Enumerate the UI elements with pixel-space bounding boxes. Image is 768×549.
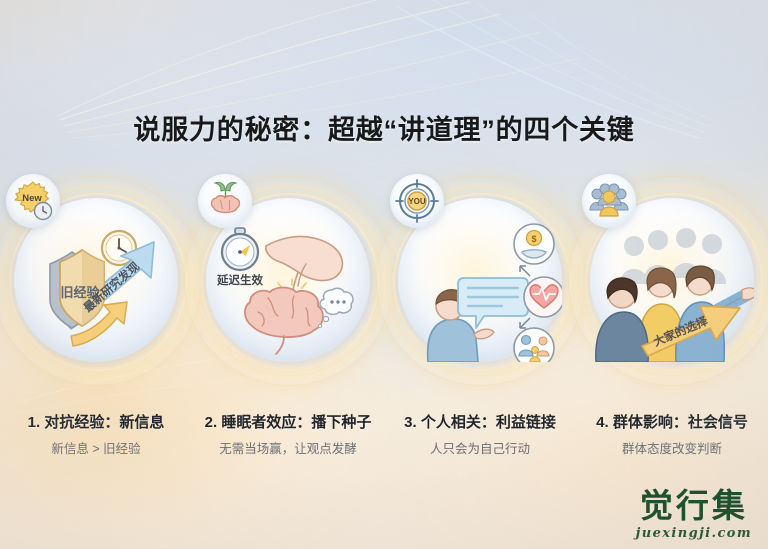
heart-pulse-icon — [524, 277, 562, 317]
caption-2: 2. 睡眠者效应：播下种子 无需当场赢，让观点发酵 — [192, 412, 384, 459]
badge-you-target: YOU — [390, 174, 444, 228]
caption-sub: 人只会为自己行动 — [388, 439, 572, 459]
badge-label: YOU — [408, 197, 426, 206]
hand-icon — [266, 236, 342, 290]
svg-text:$: $ — [531, 234, 536, 244]
panel-2-sleeper-effect[interactable]: 延迟生效 — [192, 172, 384, 382]
poster-canvas: 说服力的秘密：超越“讲道理”的四个关键 — [0, 0, 768, 549]
caption-heading: 3. 个人相关：利益链接 — [388, 412, 572, 434]
caption-sub: 新信息 > 旧经验 — [4, 439, 188, 459]
speech-bubble-icon — [458, 278, 528, 328]
brain-icon — [245, 288, 323, 355]
family-icon — [514, 328, 554, 362]
timer-label: 延迟生效 — [216, 273, 263, 287]
badge-brain-sprout — [198, 174, 252, 228]
logo-domain: juexingji.com — [636, 526, 752, 541]
badge-crowd — [582, 174, 636, 228]
caption-1: 1. 对抗经验：新信息 新信息 > 旧经验 — [0, 412, 192, 459]
badge-label: New — [22, 193, 42, 204]
caption-sub: 无需当场赢，让观点发酵 — [196, 439, 380, 459]
panel-4-social-proof[interactable]: 大家的选择 — [576, 172, 768, 382]
caption-4: 4. 群体影响：社会信号 群体态度改变判断 — [576, 412, 768, 459]
panel-3-personal-relevance[interactable]: $ — [384, 172, 576, 382]
hand-coin-icon: $ — [514, 224, 554, 264]
caption-3: 3. 个人相关：利益链接 人只会为自己行动 — [384, 412, 576, 459]
watermark-logo: 觉行集 juexingji.com — [636, 487, 752, 541]
stopwatch-icon — [222, 228, 258, 270]
target-crosshair-you-icon: YOU — [396, 180, 438, 222]
person-front-icon — [596, 278, 648, 362]
caption-sub: 群体态度改变判断 — [580, 439, 764, 459]
caption-heading: 2. 睡眠者效应：播下种子 — [196, 412, 380, 434]
panel-1-opposing-experience[interactable]: 旧经验 最新研究发现 New — [0, 172, 192, 382]
badge-new: New — [6, 174, 60, 228]
thought-bubble-icon — [318, 288, 353, 327]
page-title: 说服力的秘密：超越“讲道理”的四个关键 — [0, 108, 768, 147]
panel-row: 旧经验 最新研究发现 New — [0, 172, 768, 382]
caption-heading: 1. 对抗经验：新信息 — [4, 412, 188, 434]
new-burst-clock-icon: New — [15, 182, 52, 220]
crowd-group-icon — [590, 184, 628, 216]
brain-sprout-icon — [212, 182, 240, 212]
logo-chinese: 觉行集 — [636, 487, 752, 525]
caption-row: 1. 对抗经验：新信息 新信息 > 旧经验 2. 睡眠者效应：播下种子 无需当场… — [0, 412, 768, 459]
caption-heading: 4. 群体影响：社会信号 — [580, 412, 764, 434]
